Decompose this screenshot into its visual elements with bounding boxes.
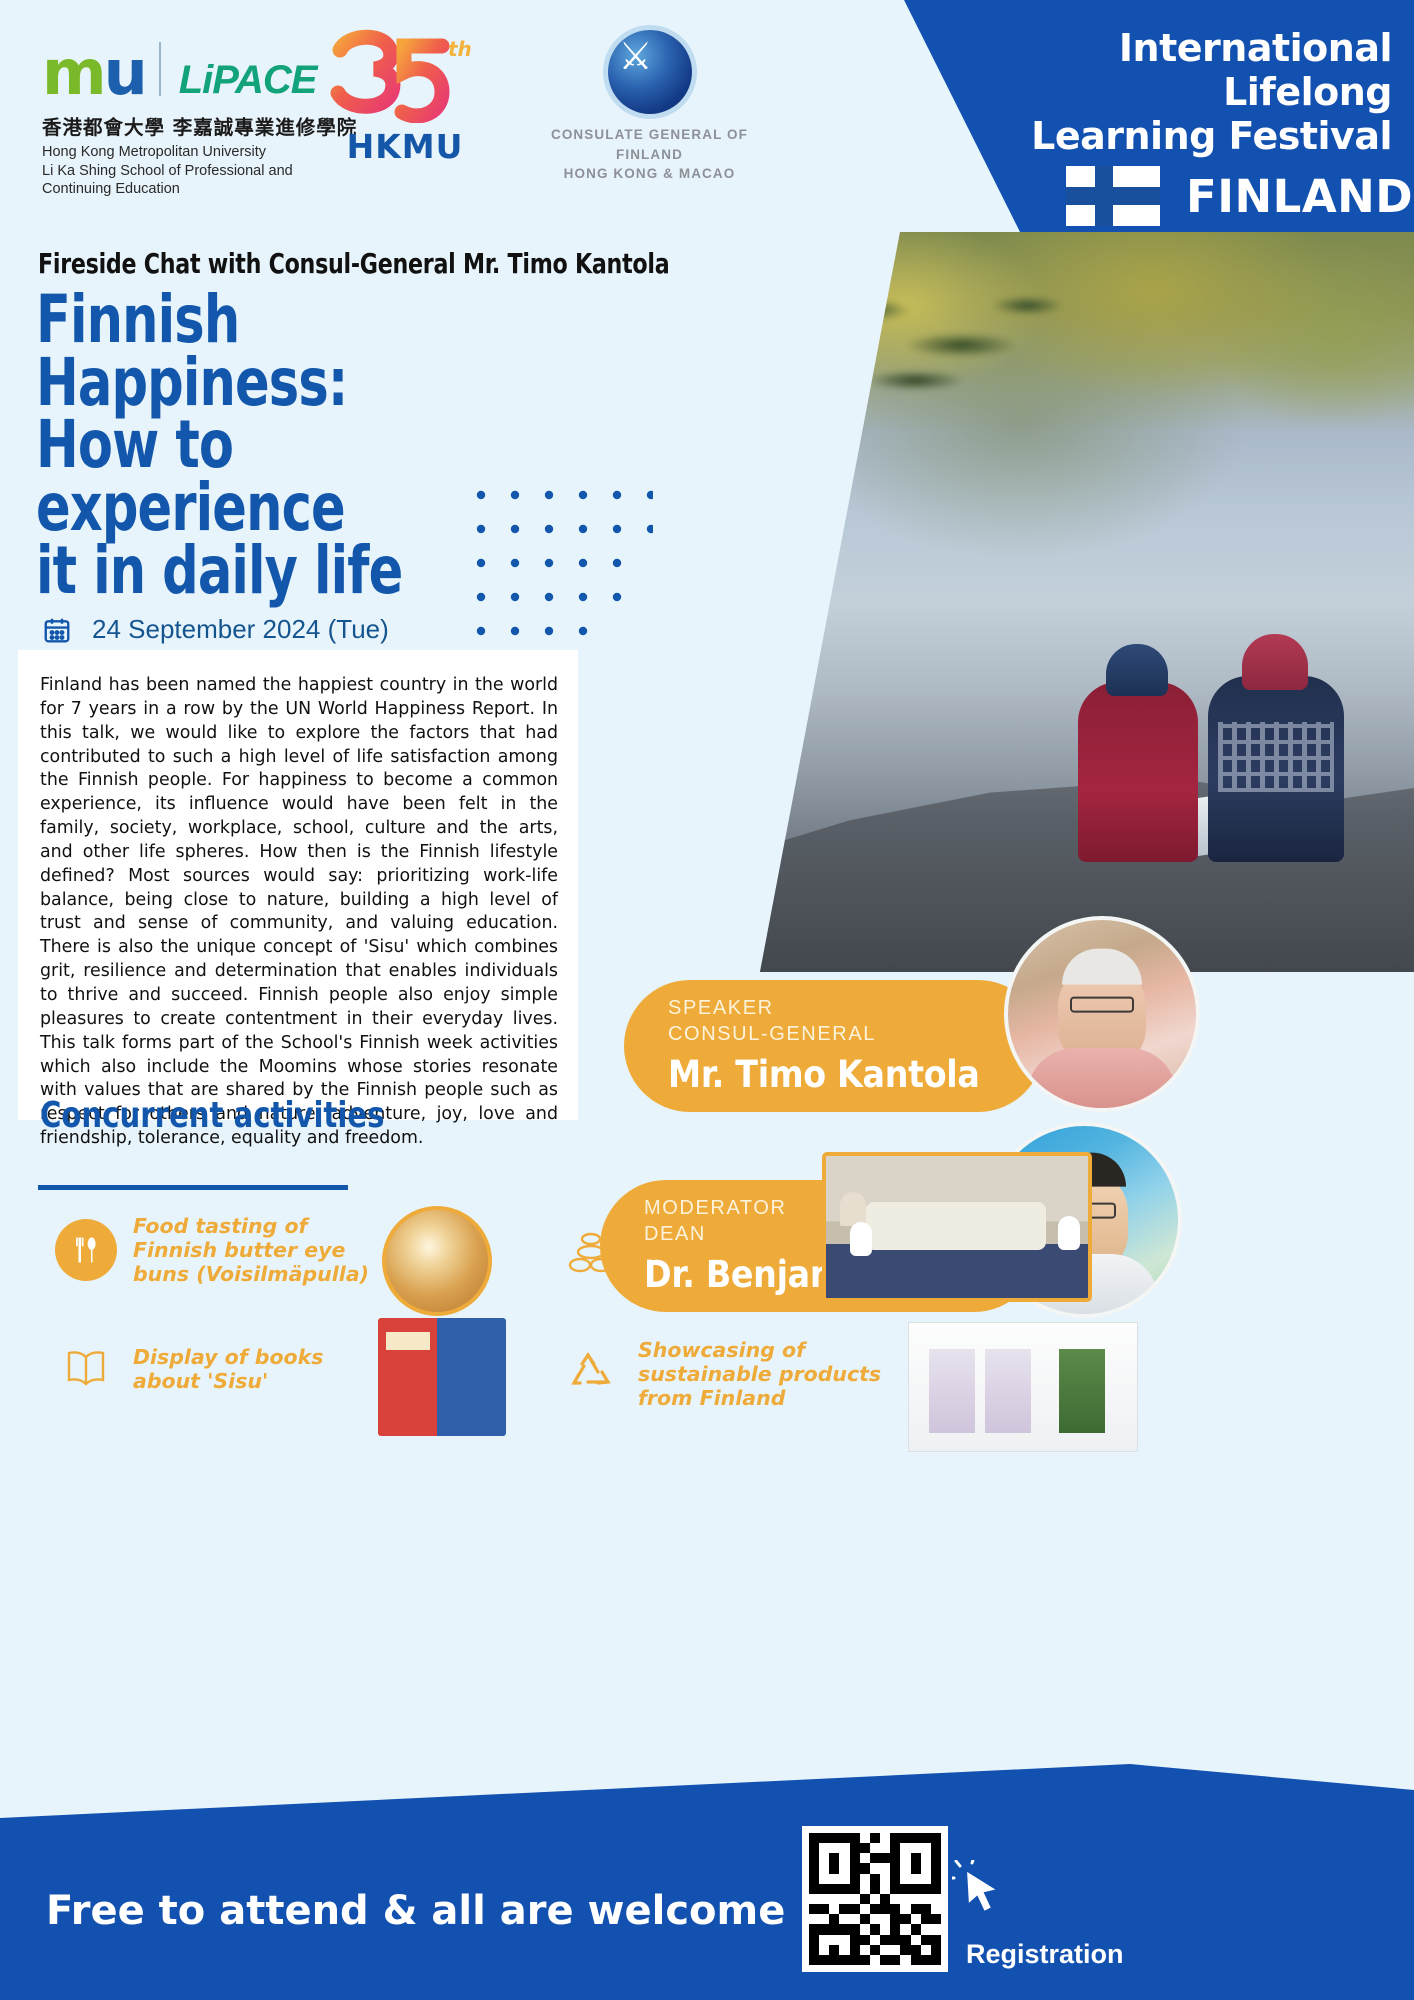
finland-lion-emblem-icon: ⚔ <box>608 30 692 114</box>
poster-root: mu LiPACE 香港都會大學 李嘉誠專業進修學院 Hong Kong Met… <box>0 0 1414 2000</box>
speaker-shirt <box>1027 1048 1177 1112</box>
person-red-jacket <box>1078 682 1198 862</box>
sustainable-products-photo <box>908 1322 1138 1452</box>
hkmu-label: HKMU <box>325 127 485 166</box>
product-panel <box>1059 1349 1105 1433</box>
consulate-caption: CONSULATE GENERAL OF FINLAND HONG KONG &… <box>522 125 777 184</box>
lion-glyph: ⚔ <box>619 38 653 76</box>
recycle-icon <box>560 1343 622 1405</box>
speaker-role: SPEAKER CONSUL-GENERAL <box>668 996 1044 1047</box>
description-card: Finland has been named the happiest coun… <box>18 650 578 1120</box>
registration-qr-code[interactable] <box>802 1826 948 1972</box>
activity-item-sustainable: Showcasing of sustainable products from … <box>560 1338 920 1411</box>
calendar-icon <box>40 613 74 645</box>
speaker-name: Mr. Timo Kantola <box>668 1053 1044 1096</box>
hkmu-lipace-logo: mu LiPACE 香港都會大學 李嘉誠專業進修學院 Hong Kong Met… <box>42 38 372 199</box>
school-name-english: Hong Kong Metropolitan University Li Ka … <box>42 143 372 199</box>
red-beanie <box>1242 634 1308 690</box>
35-number-graphic: th <box>325 28 485 123</box>
activity-label-sustainable: Showcasing of sustainable products from … <box>638 1338 920 1411</box>
moomin-figure <box>1058 1216 1080 1250</box>
person-patterned-sweater <box>1208 676 1344 862</box>
footer-text: Free to attend & all are welcome <box>46 1888 785 1934</box>
hkmu-35th-anniversary-logo: th HKMU <box>325 28 485 166</box>
consulate-logo: ⚔ CONSULATE GENERAL OF FINLAND HONG KONG… <box>522 30 777 184</box>
speaker-avatar <box>1004 916 1200 1112</box>
activity-label-books: Display of books about 'Sisu' <box>133 1345 385 1393</box>
sweater-pattern <box>1218 722 1334 792</box>
activity-label-moomin: Moomin Corner <box>638 1241 815 1265</box>
qr-grid <box>809 1833 941 1965</box>
blue-beanie <box>1106 644 1168 696</box>
activity-item-moomin: Moomin Corner <box>560 1222 860 1284</box>
finland-row: FINLAND <box>1044 160 1414 232</box>
product-panel <box>929 1349 975 1433</box>
concurrent-activities-heading: Concurrent activities <box>40 1095 384 1136</box>
lamp <box>840 1192 866 1226</box>
finland-label: FINLAND <box>1186 170 1413 223</box>
description-text: Finland has been named the happiest coun… <box>40 674 558 1151</box>
activity-item-books: Display of books about 'Sisu' <box>55 1338 385 1400</box>
sisu-books-photo <box>378 1318 506 1436</box>
butter-bun-photo <box>382 1206 492 1316</box>
finland-flag-icon <box>1066 166 1160 226</box>
activity-label-food: Food tasting of Finnish butter eye buns … <box>133 1214 385 1287</box>
product-panel <box>985 1349 1031 1433</box>
mu-wordmark: mu LiPACE <box>42 38 372 100</box>
hero-photo <box>760 232 1414 972</box>
stones-icon <box>560 1222 622 1284</box>
moomin-figure <box>850 1222 872 1256</box>
speaker-card: SPEAKER CONSUL-GENERAL Mr. Timo Kantola <box>624 980 1044 1112</box>
cutlery-icon <box>55 1219 117 1281</box>
activities-list: Food tasting of Finnish butter eye buns … <box>0 1198 1414 1478</box>
cursor-click-icon <box>952 1860 1010 1922</box>
registration-label: Registration <box>966 1939 1124 1970</box>
sofa <box>866 1202 1046 1250</box>
activity-item-food: Food tasting of Finnish butter eye buns … <box>55 1214 385 1287</box>
moomin-corner-photo <box>822 1152 1092 1302</box>
lipace-wordmark: LiPACE <box>179 60 317 100</box>
mu-m-glyph: m <box>42 36 104 109</box>
page-title: Finnish Happiness: How to experience it … <box>36 289 483 602</box>
svg-text:th: th <box>448 37 472 61</box>
logo-divider <box>159 42 161 96</box>
section-rule <box>38 1185 348 1190</box>
footer-band <box>0 1764 1414 2000</box>
open-book-icon <box>55 1338 117 1400</box>
mu-u-glyph: u <box>104 36 145 109</box>
glasses-icon <box>1070 997 1134 1013</box>
kicker-line: Fireside Chat with Consul-General Mr. Ti… <box>38 247 669 280</box>
pine-branch <box>770 244 1100 464</box>
event-date: 24 September 2024 (Tue) <box>92 613 389 646</box>
dot-grid-decoration <box>473 487 653 637</box>
school-name-chinese: 香港都會大學 李嘉誠專業進修學院 <box>42 111 372 140</box>
